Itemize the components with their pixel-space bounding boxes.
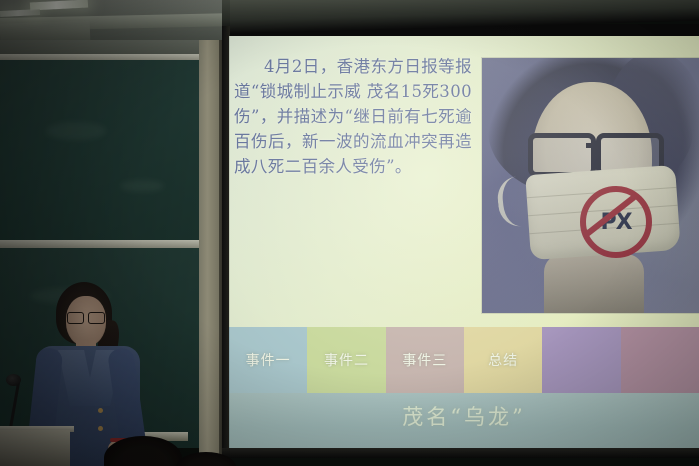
slide-footer-band: 茂名“乌龙” [229, 393, 699, 450]
presenter-lens-right [88, 312, 105, 324]
nav-item-4-label: 总结 [488, 350, 518, 370]
chalkboard [0, 60, 222, 243]
nav-item-3[interactable]: 事件三 [386, 327, 464, 393]
nav-item-6[interactable] [621, 327, 699, 393]
slide-body-text: 4月2日，香港东方日报等报道“锁城制止示威 茂名15死300伤”，并描述为“继日… [234, 54, 472, 179]
chalk-smudge [46, 122, 106, 140]
presenter-glasses-icon [67, 312, 105, 323]
slide-body: 4月2日，香港东方日报等报道“锁城制止示威 茂名15死300伤”，并描述为“继日… [229, 36, 699, 326]
nav-item-2[interactable]: 事件二 [307, 327, 385, 393]
slide-nav-band: 事件一 事件二 事件三 总结 [229, 327, 699, 393]
nav-item-5[interactable] [542, 327, 620, 393]
nav-item-1-label: 事件一 [246, 350, 291, 370]
photo-projection-shade [482, 58, 699, 313]
slide-footer-title: 茂名“乌龙” [402, 401, 525, 431]
nav-item-1[interactable]: 事件一 [229, 327, 307, 393]
presenter-lens-left [67, 312, 84, 324]
jacket-button [98, 408, 103, 413]
projection-screen-bottom-border [222, 448, 699, 458]
nav-item-2-label: 事件二 [324, 350, 369, 370]
nav-item-4[interactable]: 总结 [464, 327, 542, 393]
jacket-button [98, 426, 103, 431]
protester-photo: PX [482, 58, 699, 313]
classroom-scene: 4月2日，香港东方日报等报道“锁城制止示威 茂名15死300伤”，并描述为“继日… [0, 0, 699, 466]
podium [0, 430, 70, 466]
microphone-icon [6, 374, 21, 386]
chalk-smudge [120, 180, 164, 192]
nav-item-3-label: 事件三 [402, 350, 447, 370]
projection-screen: 4月2日，香港东方日报等报道“锁城制止示威 茂名15死300伤”，并描述为“继日… [229, 36, 699, 450]
